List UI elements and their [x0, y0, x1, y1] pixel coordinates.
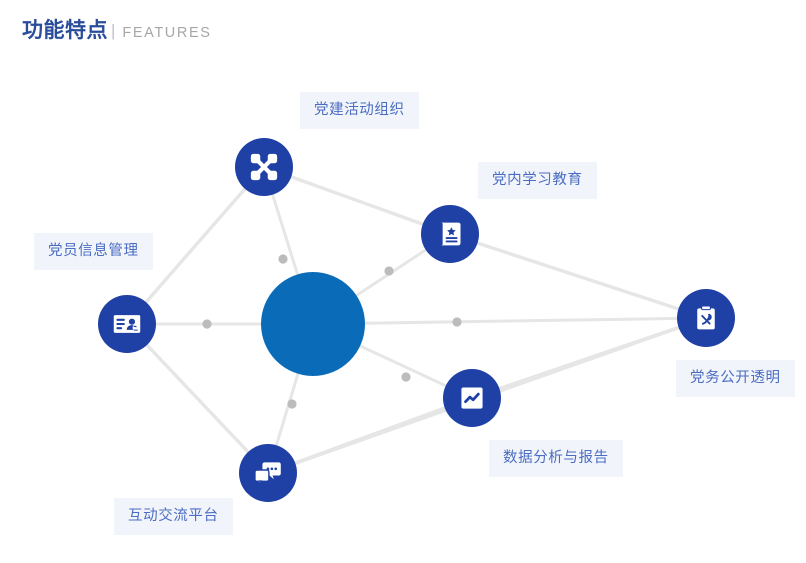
- edge-midpoint-dot: [401, 372, 410, 381]
- edge-midpoint-dot: [452, 317, 461, 326]
- diagram-edges: [0, 0, 806, 563]
- node-affairs-transparency[interactable]: [677, 289, 735, 347]
- chat-bubbles-icon: [253, 458, 283, 488]
- id-card-icon: [112, 309, 142, 339]
- node-data-analysis[interactable]: [443, 369, 501, 427]
- center-hub[interactable]: [261, 272, 365, 376]
- label-party-activities: 党建活动组织: [300, 92, 419, 129]
- node-member-info[interactable]: [98, 295, 156, 353]
- clipboard-emblem-icon: [692, 304, 720, 332]
- node-interaction-platform[interactable]: [239, 444, 297, 502]
- edge-midpoint-dot: [202, 319, 211, 328]
- edge-midpoint-dot: [287, 399, 296, 408]
- book-star-icon: [436, 220, 464, 248]
- sitemap-icon: [249, 152, 279, 182]
- label-member-info: 党员信息管理: [34, 233, 153, 270]
- node-party-activities[interactable]: [235, 138, 293, 196]
- edge-midpoint-dot: [278, 254, 287, 263]
- chart-trend-icon: [459, 385, 485, 411]
- edge-midpoint-dot: [384, 266, 393, 275]
- label-data-analysis: 数据分析与报告: [489, 440, 623, 477]
- features-network-diagram: 党建活动组织党内学习教育党员信息管理党务公开透明数据分析与报告互动交流平台: [0, 0, 806, 563]
- node-party-education[interactable]: [421, 205, 479, 263]
- label-party-education: 党内学习教育: [478, 162, 597, 199]
- page-root: 功能特点 | FEATURES 党建活动组织党内学习教育党员信息管理党务公开透明…: [0, 0, 806, 563]
- label-interaction-platform: 互动交流平台: [114, 498, 233, 535]
- label-affairs-transparency: 党务公开透明: [676, 360, 795, 397]
